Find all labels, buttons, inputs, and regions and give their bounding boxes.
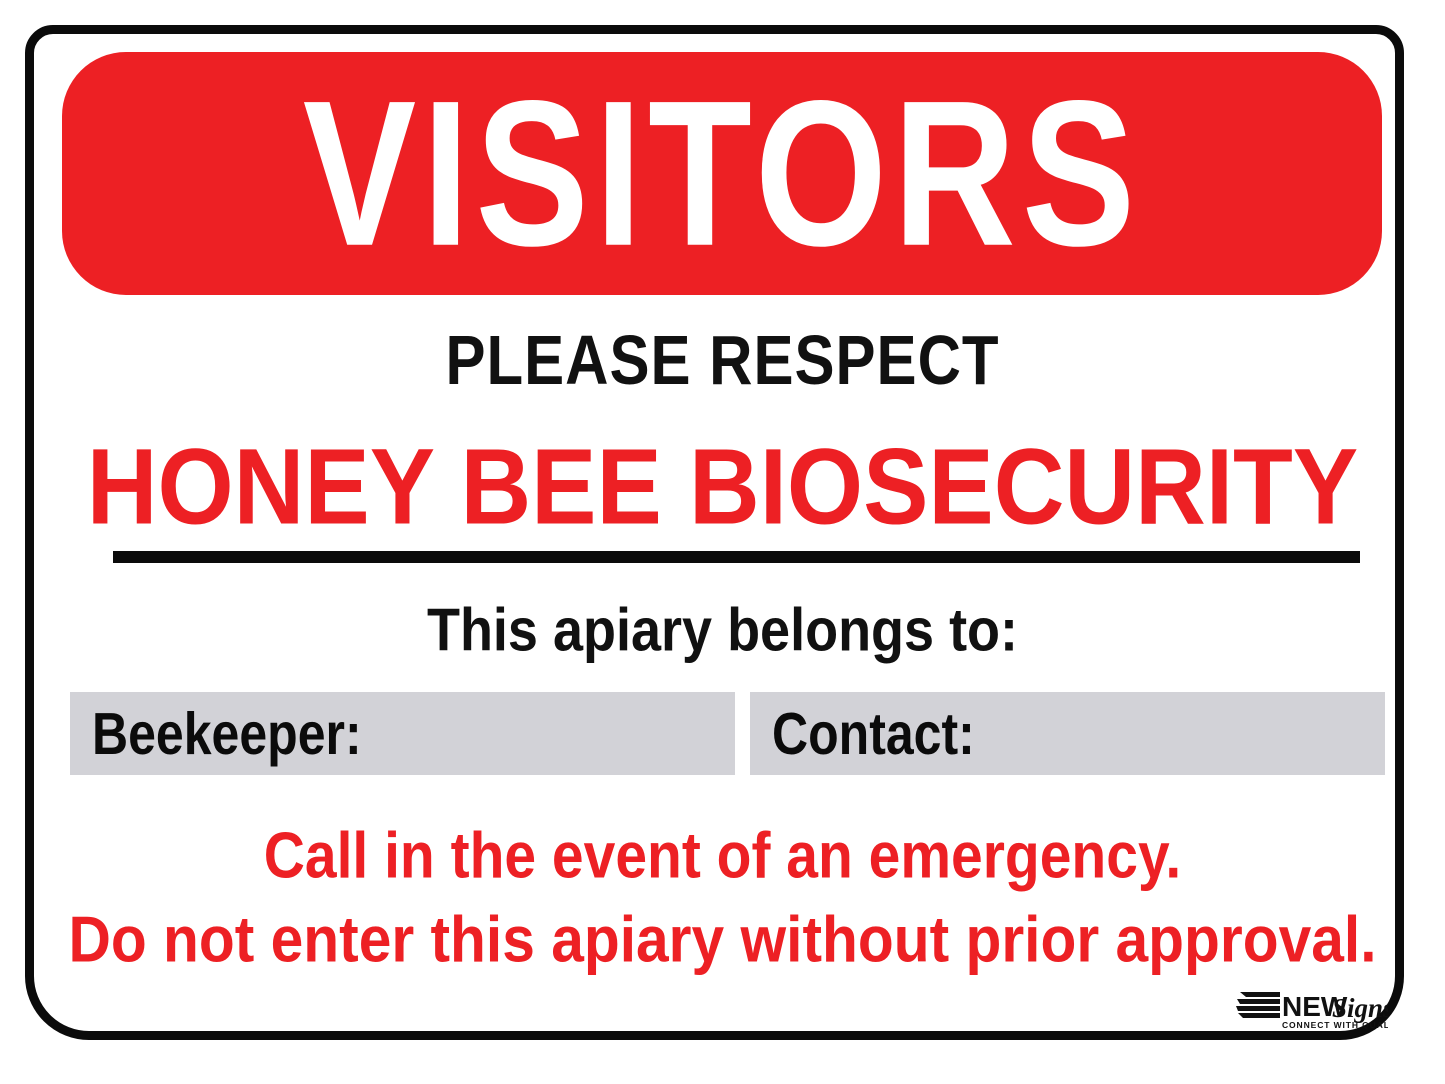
- sign-root: VISITORS PLEASE RESPECT HONEY BEE BIOSEC…: [0, 0, 1445, 1084]
- ownership-prompt: This apiary belongs to:: [0, 600, 1445, 660]
- beekeeper-field[interactable]: Beekeeper:: [70, 692, 735, 775]
- headline-line-1: PLEASE RESPECT: [0, 326, 1445, 396]
- contact-field-label: Contact:: [772, 704, 975, 763]
- warning-line-1: Call in the event of an emergency.: [0, 824, 1445, 889]
- banner-title: VISITORS: [303, 70, 1141, 277]
- logo-tagline: CONNECT WITH QUALITY: [1282, 1020, 1388, 1030]
- newsigns-logo-mark: NEW Signs CONNECT WITH QUALITY: [1236, 986, 1388, 1032]
- newsigns-logo: NEW Signs CONNECT WITH QUALITY: [1236, 986, 1388, 1032]
- contact-field[interactable]: Contact:: [750, 692, 1385, 775]
- motion-stripes-icon: [1236, 992, 1280, 1018]
- visitors-banner: VISITORS: [62, 52, 1382, 295]
- logo-brand-secondary: Signs: [1332, 993, 1388, 1023]
- headline-line-2: HONEY BEE BIOSECURITY: [0, 434, 1445, 542]
- warning-line-2: Do not enter this apiary without prior a…: [0, 908, 1445, 973]
- beekeeper-field-label: Beekeeper:: [92, 704, 362, 763]
- horizontal-divider: [113, 551, 1360, 563]
- ownership-fields-row: Beekeeper: Contact:: [70, 692, 1385, 775]
